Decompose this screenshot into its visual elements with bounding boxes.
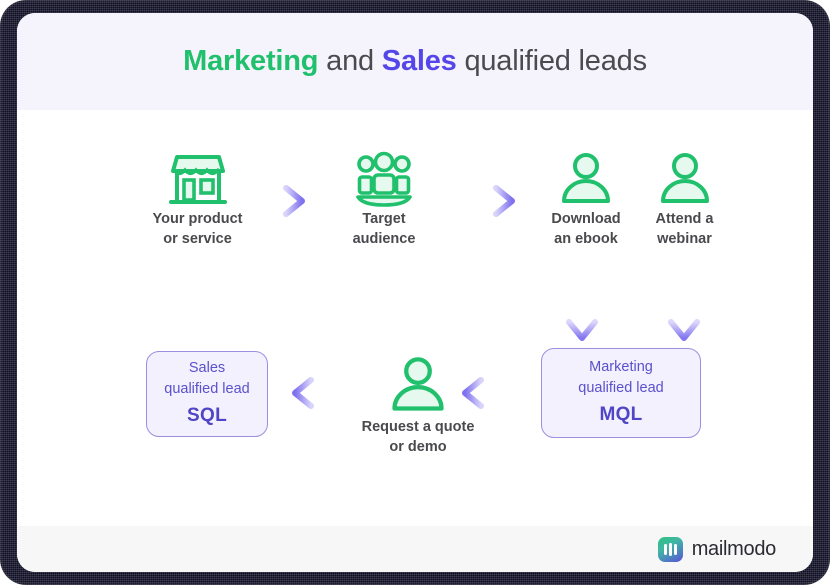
arrow-audience-to-lead-magnets [452, 182, 522, 225]
mailmodo-logo-icon [658, 537, 683, 562]
arrow-webinar-to-mql [662, 288, 706, 351]
node-target-audience: Target audience [314, 148, 454, 249]
title-and: and [318, 45, 382, 77]
node-label-line-1: Target [314, 210, 454, 230]
card-header: Marketing and Sales qualified leads [17, 13, 813, 110]
card-footer: mailmodo [17, 526, 813, 572]
diagram-canvas: Your product or service [17, 110, 813, 526]
box-line-1: Marketing [589, 357, 653, 378]
node-label-line-2: audience [314, 230, 454, 250]
node-attend-a-webinar: Attend a webinar [617, 148, 752, 249]
node-label-line-2: or service [115, 230, 280, 250]
box-sales-qualified-lead: Sales qualified lead SQL [146, 351, 268, 437]
audience-group-icon [314, 148, 454, 210]
box-line-2: qualified lead [578, 378, 663, 399]
box-marketing-qualified-lead: Marketing qualified lead MQL [541, 348, 701, 438]
title-marketing: Marketing [183, 45, 318, 77]
person-icon [617, 148, 752, 210]
title-qualified-leads: qualified leads [457, 45, 647, 77]
arrow-product-to-audience [242, 182, 312, 225]
node-label-line-1: Attend a [617, 210, 752, 230]
title-sales: Sales [382, 45, 457, 77]
outer-frame: Marketing and Sales qualified leads [0, 0, 830, 585]
node-label-line-1: Request a quote [329, 418, 507, 438]
box-line-2: qualified lead [164, 379, 249, 400]
brand-lockup: mailmodo [658, 537, 776, 562]
infographic-card: Marketing and Sales qualified leads [17, 13, 813, 572]
brand-name: mailmodo [692, 538, 776, 561]
arrow-quote-to-sql [289, 374, 361, 417]
box-line-1: Sales [189, 358, 225, 379]
arrow-ebook-to-mql [560, 288, 604, 351]
box-code: MQL [599, 401, 642, 429]
box-code: SQL [187, 402, 227, 430]
node-label-line-2: or demo [329, 438, 507, 458]
node-label-line-2: webinar [617, 230, 752, 250]
page-title: Marketing and Sales qualified leads [183, 45, 647, 78]
